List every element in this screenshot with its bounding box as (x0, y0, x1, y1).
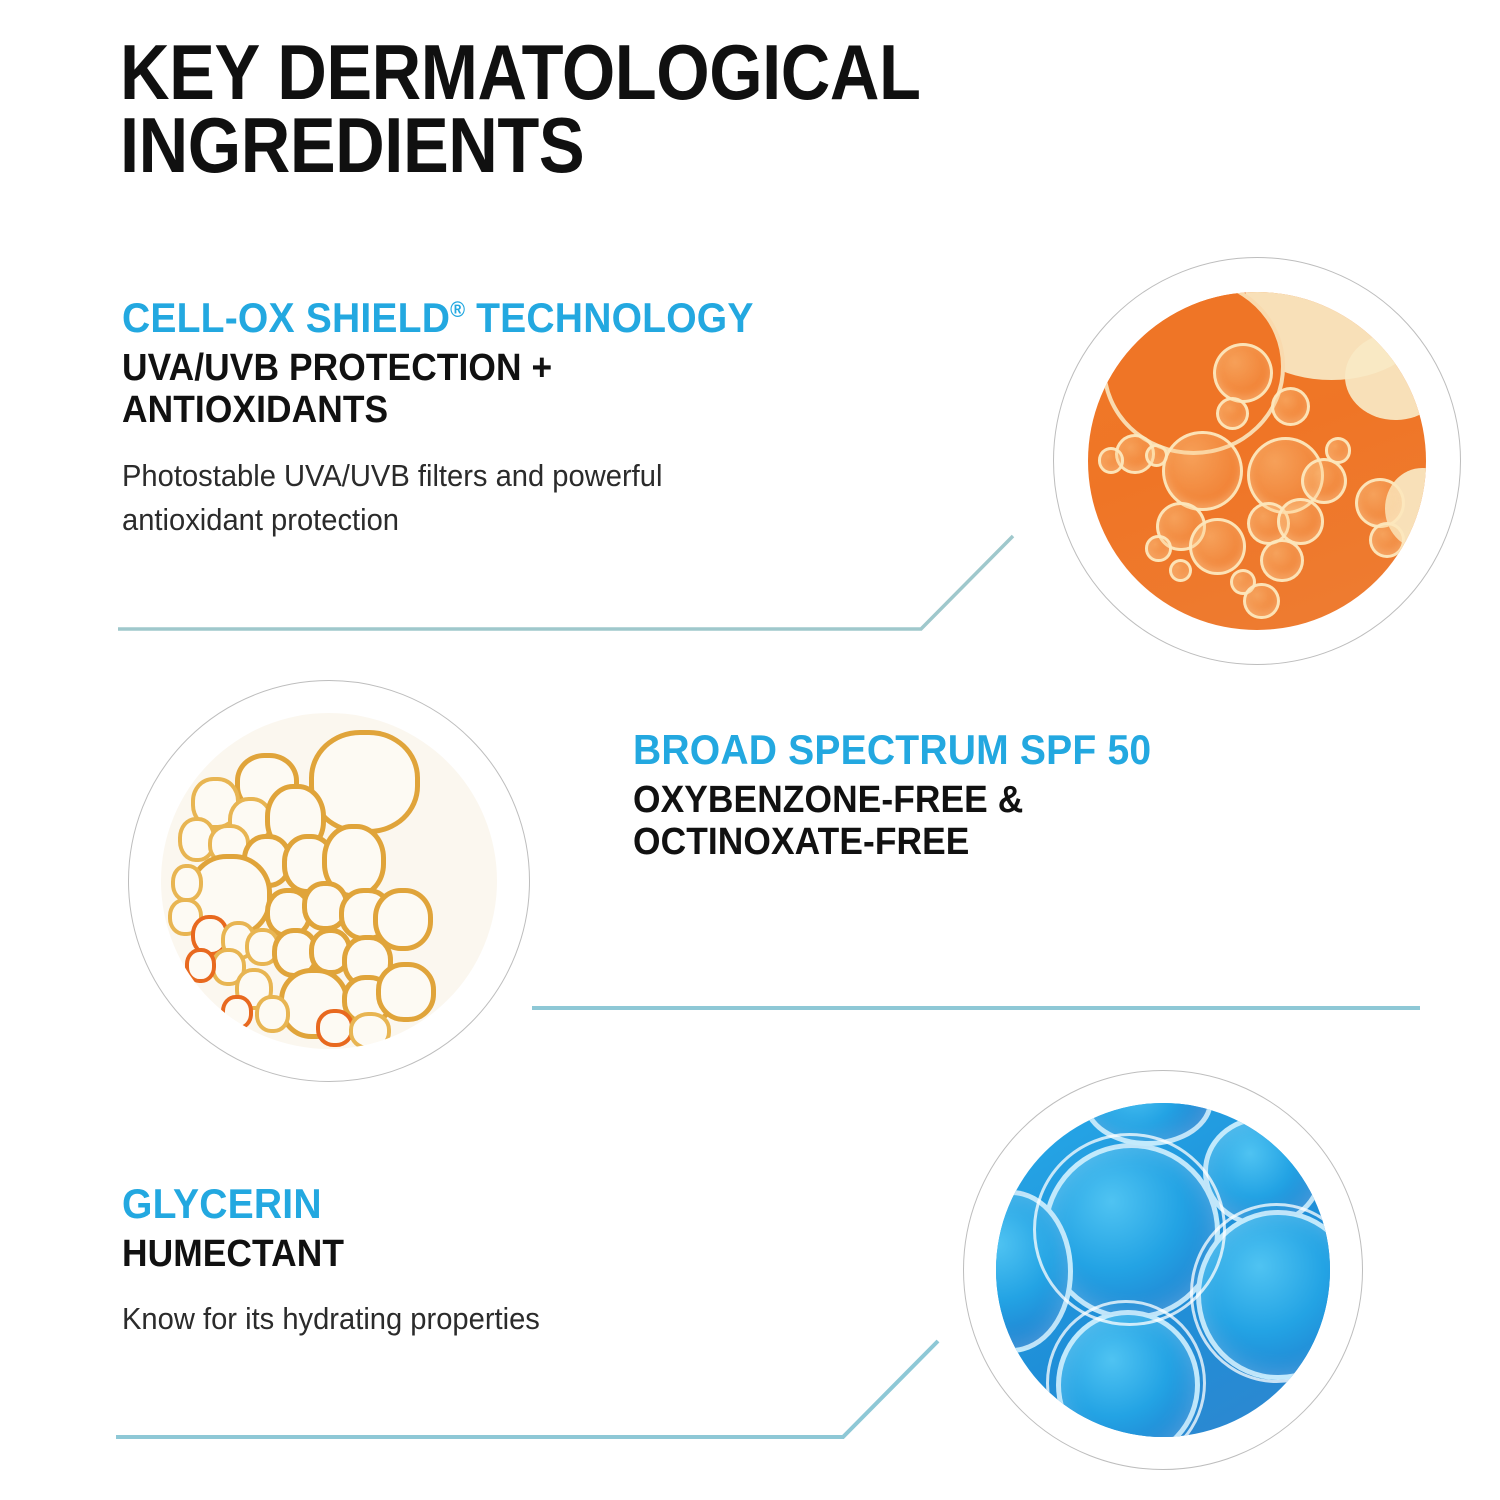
blue-gel-droplets-swatch (996, 1103, 1330, 1437)
ingredient-image-orange-oil (1053, 257, 1461, 665)
section-body-glycerin: Know for its hydrating properties (122, 1297, 874, 1341)
section-glycerin: GLYCERIN HUMECTANT Know for its hydratin… (122, 1182, 922, 1341)
section-heading-cell-ox-shield: CELL-OX SHIELD® TECHNOLOGY (122, 296, 1015, 341)
orange-oil-bubbles-swatch (1088, 292, 1426, 630)
heading-text: CELL-OX SHIELD (122, 294, 450, 341)
infographic-page: KEY DERMATOLOGICAL INGREDIENTS CELL-OX S… (0, 0, 1500, 1500)
section-body-cell-ox-shield: Photostable UVA/UVB filters and powerful… (122, 454, 1024, 542)
registered-trademark-icon: ® (450, 297, 465, 322)
section-broad-spectrum: BROAD SPECTRUM SPF 50 OXYBENZONE-FREE & … (633, 728, 1473, 864)
section-cell-ox-shield: CELL-OX SHIELD® TECHNOLOGY UVA/UVB PROTE… (122, 296, 1082, 542)
section-subheading-broad-spectrum: OXYBENZONE-FREE & OCTINOXATE-FREE (633, 779, 1414, 865)
section-subheading-glycerin: HUMECTANT (122, 1233, 866, 1276)
ingredient-image-blue-gel (963, 1070, 1363, 1470)
ingredient-image-cellular-network (128, 680, 530, 1082)
heading-text: GLYCERIN (122, 1180, 322, 1227)
page-title: KEY DERMATOLOGICAL INGREDIENTS (120, 36, 1088, 183)
amber-cellular-network-swatch (161, 713, 497, 1049)
heading-text: BROAD SPECTRUM SPF 50 (633, 726, 1151, 773)
section-subheading-cell-ox-shield: UVA/UVB PROTECTION + ANTIOXIDANTS (122, 347, 1015, 433)
section-heading-glycerin: GLYCERIN (122, 1182, 866, 1227)
heading-suffix: TECHNOLOGY (465, 294, 754, 341)
connector-line-3 (116, 1341, 938, 1437)
connector-line-1 (118, 536, 1013, 629)
section-heading-broad-spectrum: BROAD SPECTRUM SPF 50 (633, 728, 1414, 773)
